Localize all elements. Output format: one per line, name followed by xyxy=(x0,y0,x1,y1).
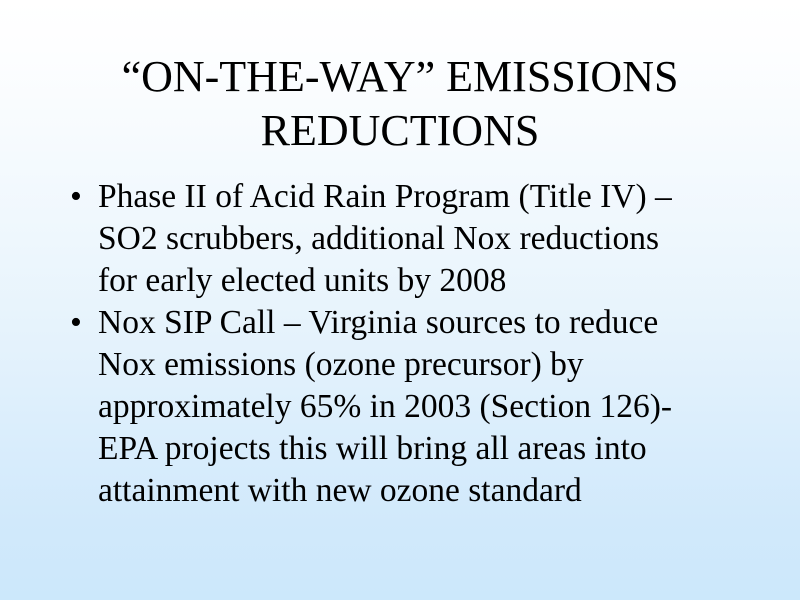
slide-title-line-2: REDUCTIONS xyxy=(0,104,800,158)
slide-canvas: “ON-THE-WAY” EMISSIONS REDUCTIONS • Phas… xyxy=(0,0,800,600)
bullet-text: Phase II of Acid Rain Program (Title IV)… xyxy=(98,176,758,302)
slide-body: • Phase II of Acid Rain Program (Title I… xyxy=(58,176,758,512)
bullet-item: • Nox SIP Call – Virginia sources to red… xyxy=(58,302,758,512)
bullet-marker-icon: • xyxy=(70,302,82,344)
bullet-item: • Phase II of Acid Rain Program (Title I… xyxy=(58,176,758,302)
slide-title: “ON-THE-WAY” EMISSIONS REDUCTIONS xyxy=(0,50,800,158)
bullet-text: Nox SIP Call – Virginia sources to reduc… xyxy=(98,302,758,512)
bullet-marker-icon: • xyxy=(70,176,82,218)
slide-title-line-1: “ON-THE-WAY” EMISSIONS xyxy=(0,50,800,104)
